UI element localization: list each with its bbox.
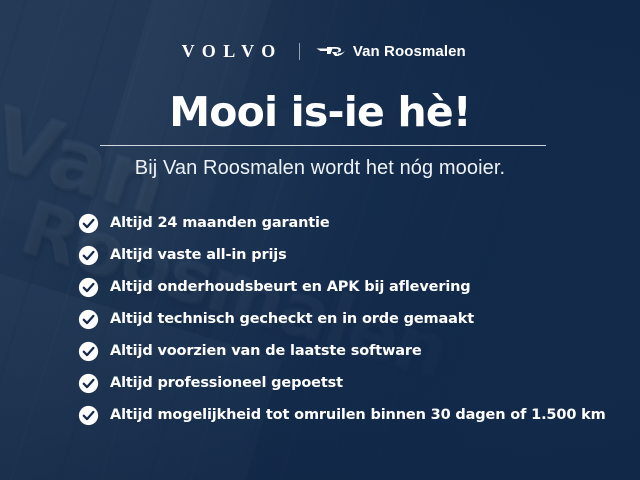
- list-item: Altijd onderhoudsbeurt en APK bij afleve…: [78, 276, 626, 298]
- check-circle-icon: [78, 373, 99, 394]
- benefit-label: Altijd voorzien van de laatste software: [110, 344, 422, 359]
- list-item: Altijd professioneel gepoetst: [78, 372, 626, 394]
- benefit-label: Altijd vaste all-in prijs: [110, 248, 287, 263]
- check-circle-icon: [78, 341, 99, 362]
- list-item: Altijd 24 maanden garantie: [78, 212, 626, 234]
- vr-monogram-icon: [316, 43, 346, 59]
- check-circle-icon: [78, 245, 99, 266]
- dealer-logo-lockup: Van Roosmalen: [316, 43, 466, 59]
- check-circle-icon: [78, 309, 99, 330]
- page-subtitle: Bij Van Roosmalen wordt het nóg mooier.: [0, 156, 640, 181]
- dealer-name-label: Van Roosmalen: [353, 44, 466, 59]
- page-title: Mooi is-ie hè!: [0, 92, 640, 133]
- promo-poster: Van Roosmalen VOLVO Van Roosmalen Mooi i…: [0, 0, 640, 480]
- list-item: Altijd vaste all-in prijs: [78, 244, 626, 266]
- volvo-wordmark: VOLVO: [174, 42, 283, 60]
- check-circle-icon: [78, 405, 99, 426]
- logo-separator: [299, 43, 300, 60]
- logo-lockup-bar: VOLVO Van Roosmalen: [0, 36, 640, 66]
- benefit-label: Altijd professioneel gepoetst: [110, 376, 343, 391]
- poster-content: VOLVO Van Roosmalen Mooi is-ie hè! Bij V…: [0, 0, 640, 480]
- check-circle-icon: [78, 277, 99, 298]
- list-item: Altijd mogelijkheid tot omruilen binnen …: [78, 404, 626, 426]
- headline-divider: [100, 145, 546, 146]
- benefit-label: Altijd 24 maanden garantie: [110, 216, 330, 231]
- benefits-list: Altijd 24 maanden garantie Altijd vaste …: [78, 212, 626, 426]
- benefit-label: Altijd onderhoudsbeurt en APK bij afleve…: [110, 280, 471, 295]
- benefit-label: Altijd technisch gecheckt en in orde gem…: [110, 312, 474, 327]
- check-circle-icon: [78, 213, 99, 234]
- list-item: Altijd voorzien van de laatste software: [78, 340, 626, 362]
- benefit-label: Altijd mogelijkheid tot omruilen binnen …: [110, 408, 606, 423]
- list-item: Altijd technisch gecheckt en in orde gem…: [78, 308, 626, 330]
